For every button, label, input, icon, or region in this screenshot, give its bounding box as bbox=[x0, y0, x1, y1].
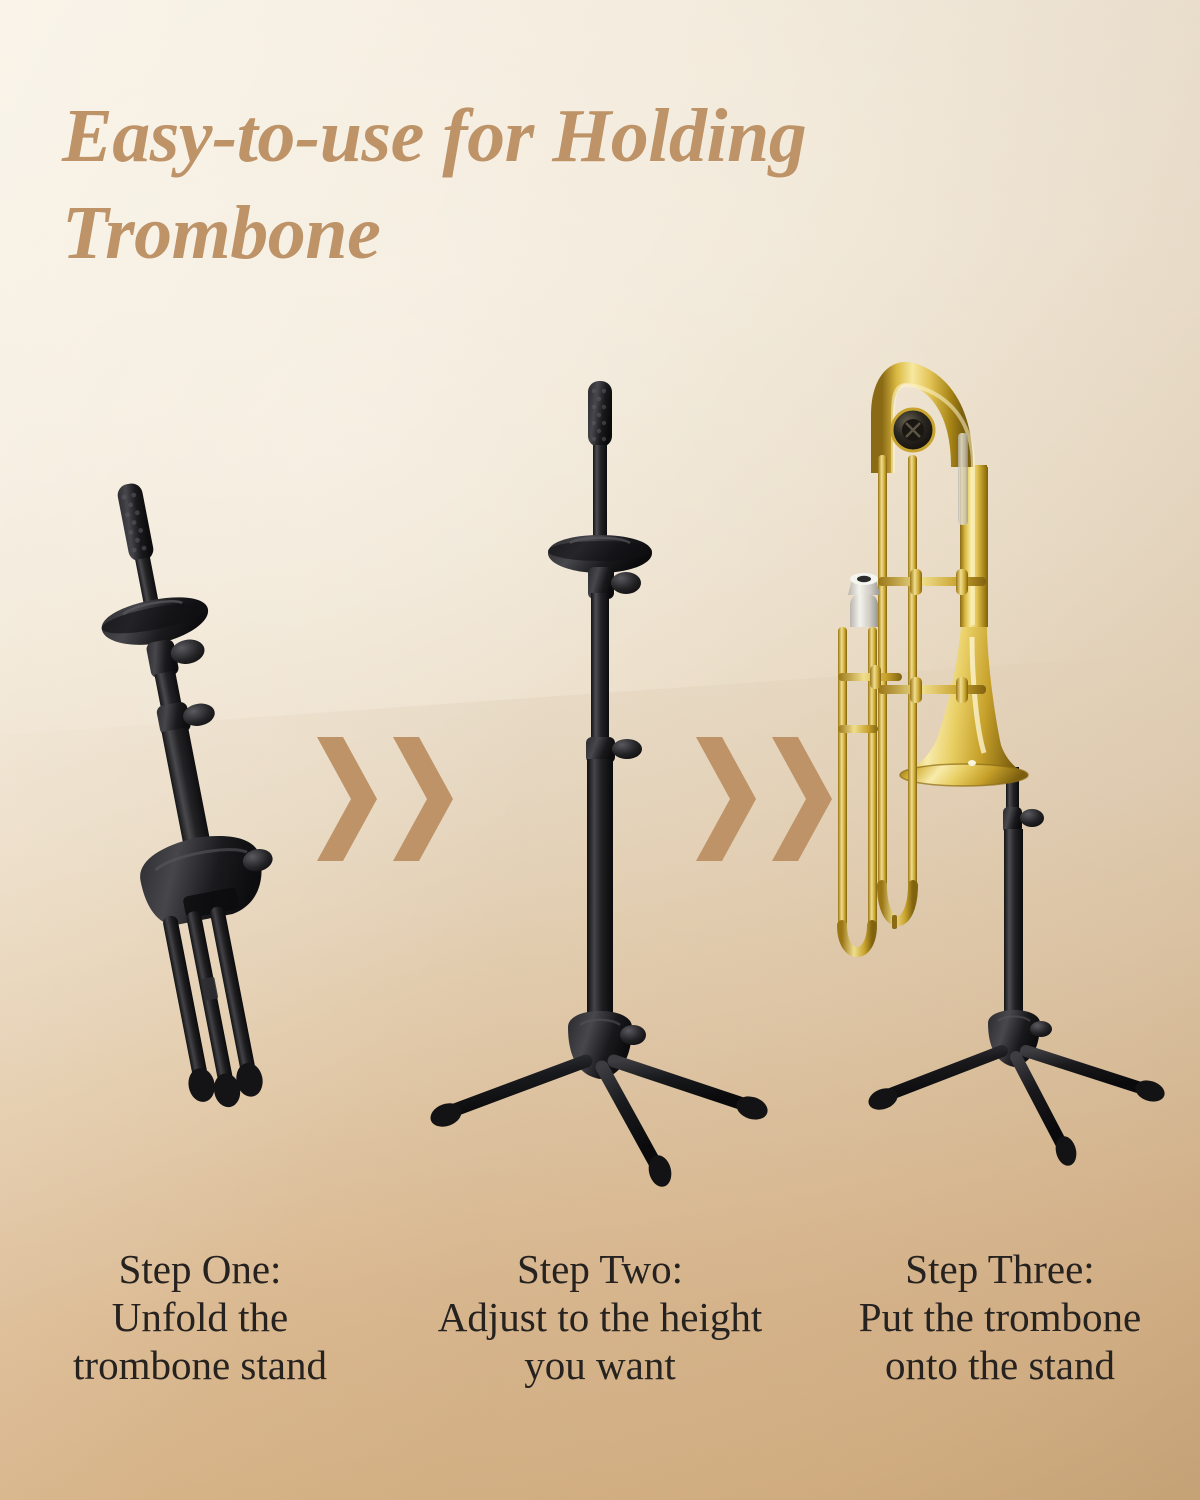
stand-rubber-grip bbox=[588, 381, 612, 447]
trombone bbox=[838, 373, 1028, 952]
step-two-title: Step Two: bbox=[400, 1246, 800, 1294]
figure-step-one-folded-stand bbox=[40, 470, 340, 1110]
double-chevron-right-icon bbox=[692, 733, 760, 865]
trombone-mouthpiece bbox=[848, 573, 880, 627]
figure-step-three-trombone-on-stand bbox=[860, 355, 1190, 1185]
stand-rubber-grip bbox=[116, 482, 155, 563]
page-title-line-1: Easy-to-use for Holding bbox=[62, 94, 806, 178]
step-one-line-2: Unfold the bbox=[0, 1294, 400, 1342]
step-captions: Step One: Unfold the trombone stand Step… bbox=[0, 1246, 1200, 1390]
step-one-title: Step One: bbox=[0, 1246, 400, 1294]
stand-middle-tube bbox=[591, 593, 609, 743]
stand-foot bbox=[186, 1066, 218, 1104]
double-chevron-right-icon bbox=[768, 733, 836, 865]
step-one-line-3: trombone stand bbox=[0, 1342, 400, 1390]
caption-step-one: Step One: Unfold the trombone stand bbox=[0, 1246, 400, 1390]
infographic-page: Easy-to-use for Holding Trombone bbox=[0, 0, 1200, 1500]
stand-tripod-legs bbox=[865, 1051, 1167, 1168]
stand-upper-tube bbox=[593, 445, 607, 543]
trombone-receiver bbox=[958, 433, 968, 525]
trombone-slide-water-key bbox=[892, 915, 897, 929]
step-three-title: Step Three: bbox=[800, 1246, 1200, 1294]
step-three-line-2: Put the trombone bbox=[800, 1294, 1200, 1342]
step-three-line-3: onto the stand bbox=[800, 1342, 1200, 1390]
caption-step-two: Step Two: Adjust to the height you want bbox=[400, 1246, 800, 1390]
caption-step-three: Step Three: Put the trombone onto the st… bbox=[800, 1246, 1200, 1390]
double-chevron-right-icon bbox=[313, 733, 381, 865]
arrow-group-two-to-three bbox=[692, 733, 836, 865]
stand-lower-tube bbox=[587, 759, 613, 1031]
stand-leg-hub bbox=[134, 824, 281, 930]
stand-tripod-legs bbox=[427, 1061, 770, 1189]
page-title: Easy-to-use for Holding Trombone bbox=[62, 88, 1122, 281]
stand-main-column bbox=[1004, 829, 1023, 1029]
folded-stand-body bbox=[66, 471, 318, 1116]
trombone-water-key bbox=[892, 409, 934, 451]
trombone-bell bbox=[900, 625, 1028, 786]
page-title-line-2: Trombone bbox=[62, 185, 1122, 282]
step-two-line-3: you want bbox=[400, 1342, 800, 1390]
step-two-line-2: Adjust to the height bbox=[400, 1294, 800, 1342]
stand-folded-legs bbox=[156, 905, 267, 1114]
